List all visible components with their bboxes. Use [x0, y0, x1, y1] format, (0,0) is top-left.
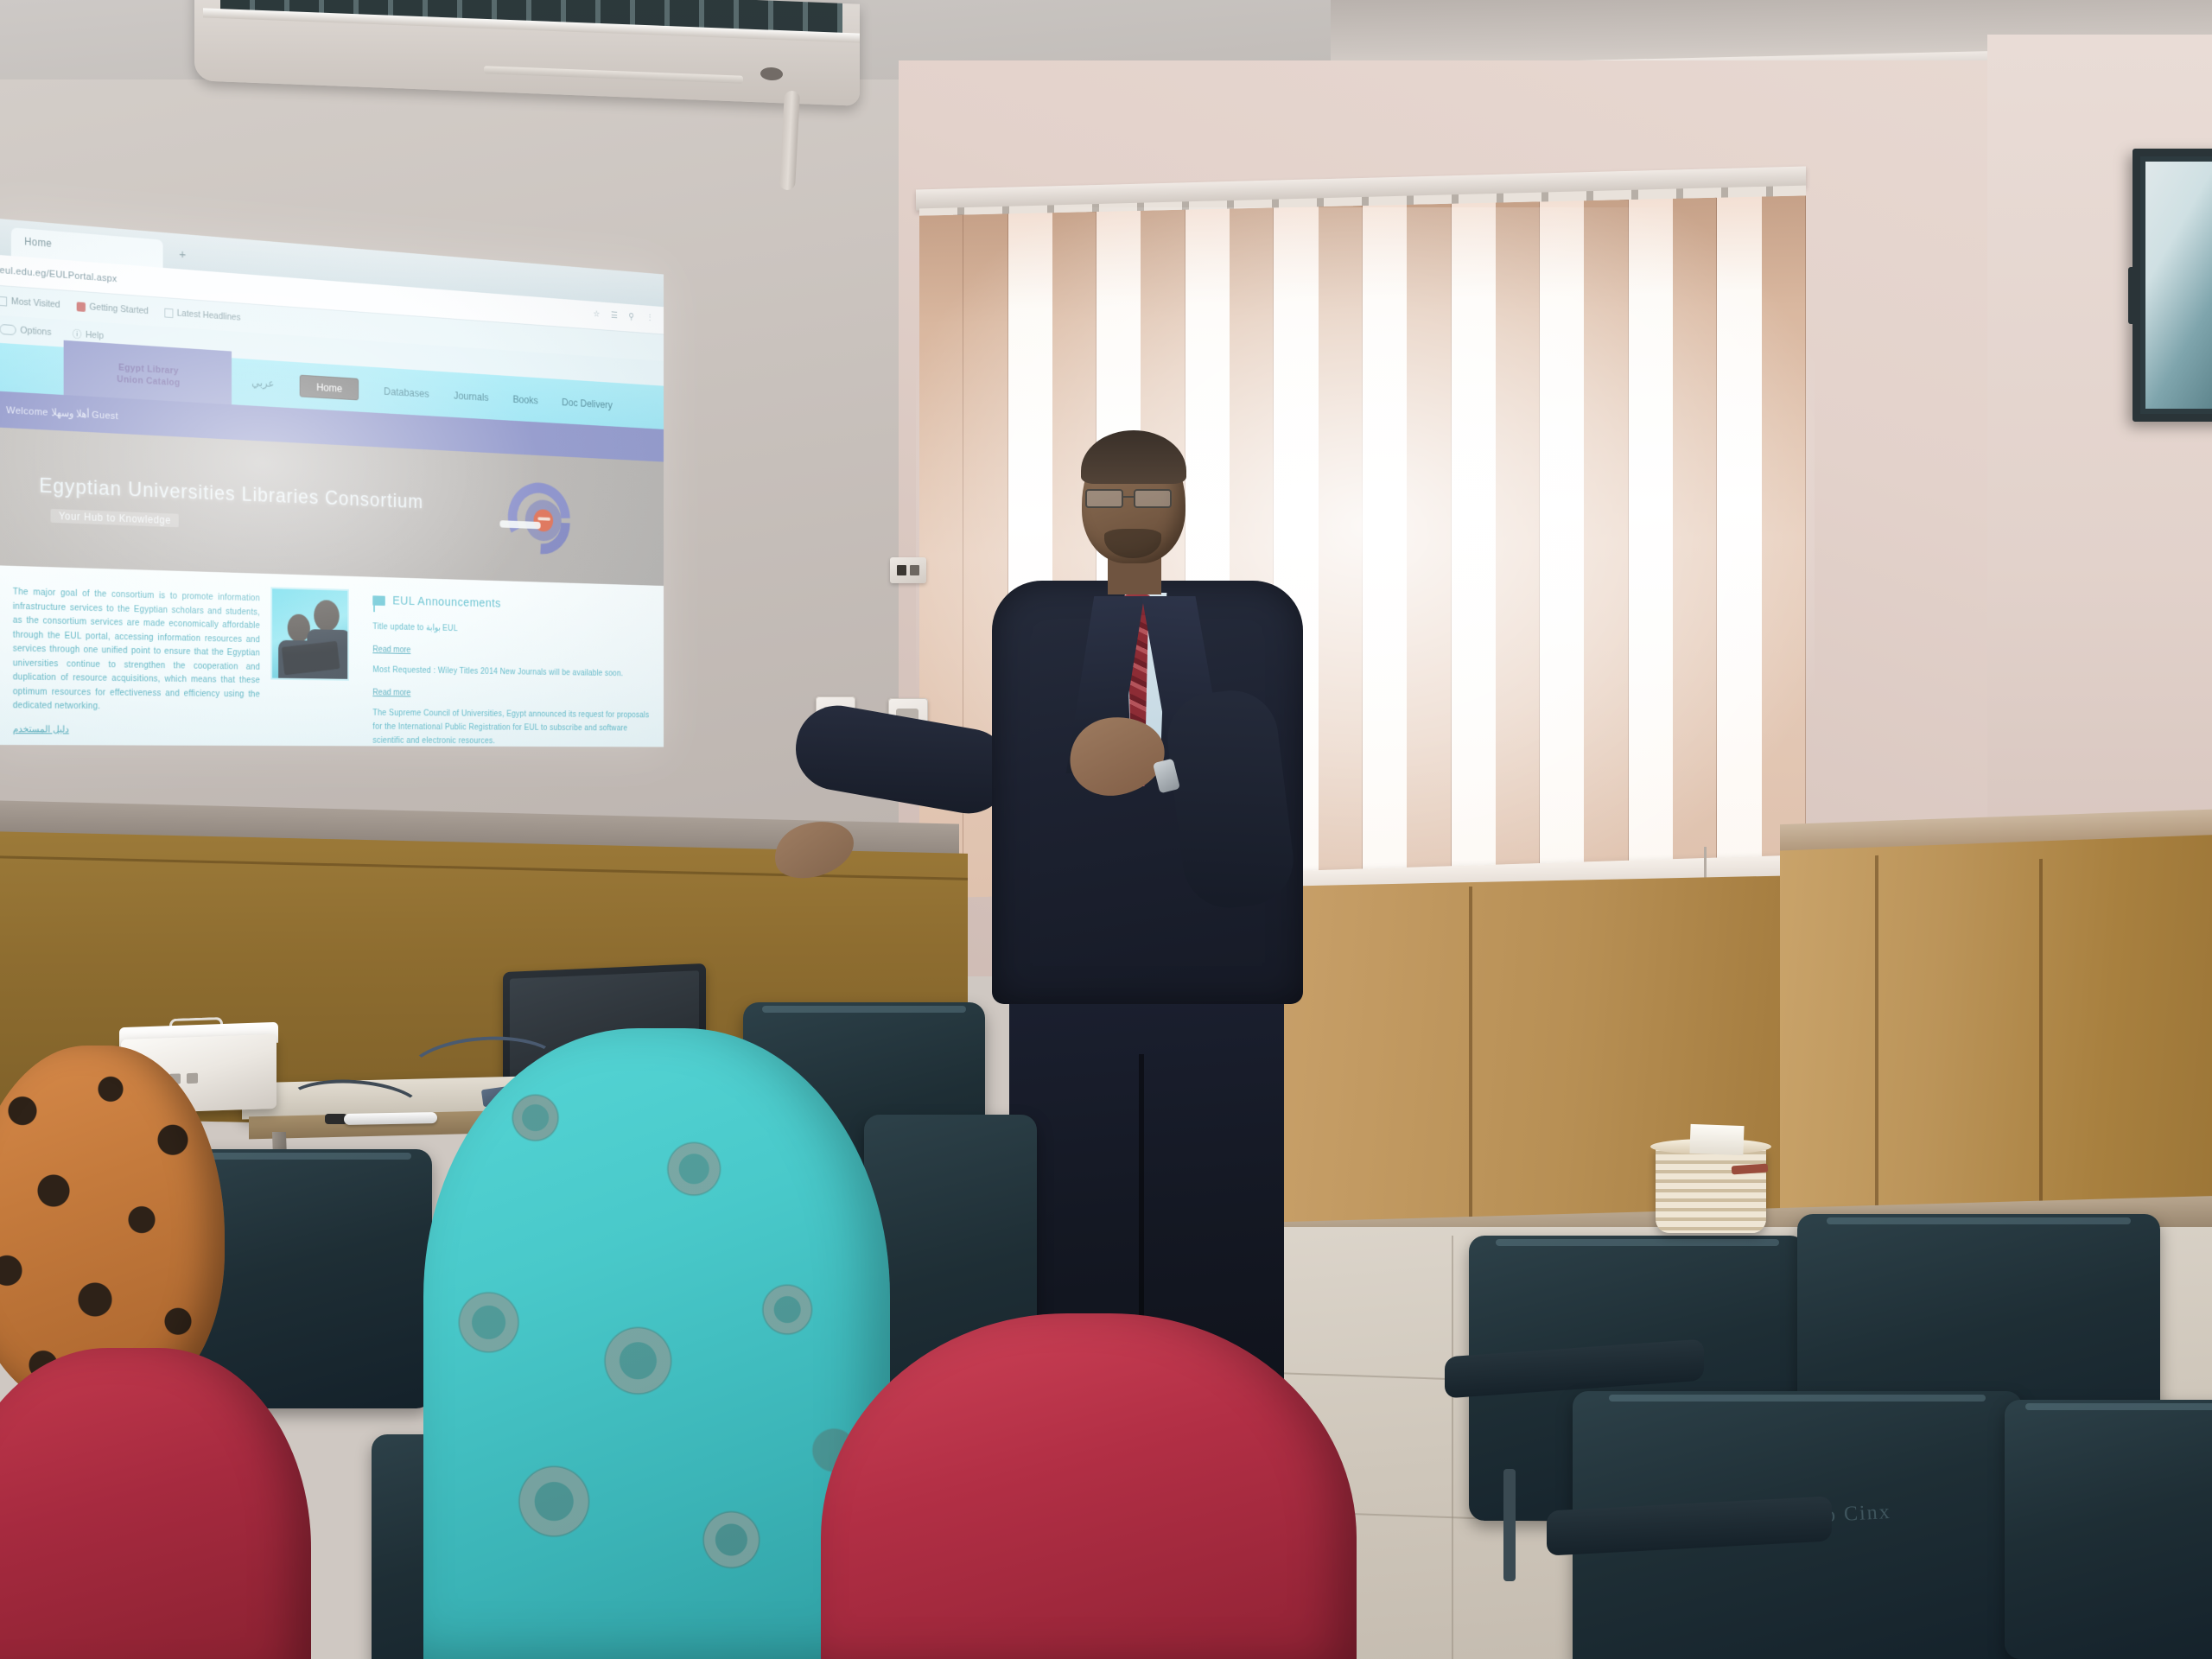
new-tab-icon[interactable]: +: [175, 247, 189, 264]
read-more-link[interactable]: Read more: [372, 645, 410, 655]
chair-leg: [1503, 1469, 1516, 1581]
help-icon: ⓘ: [73, 327, 81, 341]
search-icon[interactable]: ⚲: [628, 311, 638, 322]
bookmark-label: Most Visited: [11, 296, 60, 310]
reader-icon[interactable]: ☰: [611, 310, 620, 321]
air-conditioner-port: [760, 67, 783, 81]
addon-label: Options: [20, 326, 51, 338]
nav-item-home[interactable]: Home: [300, 374, 359, 400]
cabinet-glass: [2145, 162, 2212, 409]
announcement-item: Most Requested : Wiley Titles 2014 New J…: [372, 663, 652, 681]
bookmark-latest-headlines[interactable]: Latest Headlines: [164, 308, 240, 323]
attendee-turquoise-scarf: [423, 1028, 890, 1659]
nav-item-arabic[interactable]: عربي: [251, 376, 274, 391]
basket-contents: [1689, 1124, 1744, 1155]
eyeglasses-right-lens-icon: [1134, 489, 1172, 508]
intro-column: The major goal of the consortium is to p…: [0, 565, 270, 746]
announcement-item: The Supreme Council of Universities, Egy…: [372, 706, 652, 747]
wall-display-cabinet: [2133, 149, 2212, 422]
feed-icon: [164, 308, 173, 317]
bookmark-label: Latest Headlines: [177, 308, 241, 323]
eyeglasses-bridge: [1123, 496, 1134, 498]
announcements-heading: EUL Announcements: [372, 593, 652, 613]
firefox-icon: [76, 302, 85, 312]
floor-tile-line: [1452, 1236, 1453, 1659]
nav-item-journals[interactable]: Journals: [454, 389, 489, 403]
announcements-title: EUL Announcements: [392, 594, 500, 610]
folder-icon: [0, 296, 7, 306]
flag-icon: [372, 595, 385, 606]
audience-chair[interactable]: [2005, 1400, 2212, 1659]
eul-circular-logo: [499, 474, 581, 563]
photo-person-b-head: [314, 600, 339, 632]
menu-icon[interactable]: ⋮: [646, 313, 656, 324]
panel-seam: [1469, 887, 1472, 1232]
addon-options[interactable]: Options: [0, 324, 51, 338]
intro-paragraph: The major goal of the consortium is to p…: [13, 585, 260, 715]
students-photo: [270, 574, 360, 746]
projection-screen: Home + eul.edu.eg/EULPortal.aspx ☆ ☰ ⚲ ⋮…: [0, 218, 664, 747]
announcements-column: EUL Announcements Title update to بوابة …: [361, 576, 664, 747]
read-more-link[interactable]: Read more: [372, 688, 410, 698]
laser-pointer[interactable]: [344, 1112, 437, 1125]
waste-basket: [1656, 1145, 1766, 1233]
arabic-guide-link[interactable]: دليل المستخدم: [13, 723, 69, 734]
page-title: Egyptian Universities Libraries Consorti…: [39, 474, 423, 514]
url-text: eul.edu.eg/EULPortal.aspx: [0, 265, 118, 284]
brand-line-2: Union Catalog: [117, 374, 180, 388]
nav-item-doc-delivery[interactable]: Doc Delivery: [562, 396, 613, 410]
eyeglasses-left-lens-icon: [1085, 489, 1123, 508]
oval-icon: [0, 324, 16, 335]
browser-toolbar-icons: ☆ ☰ ⚲ ⋮: [593, 308, 655, 324]
page-subtitle: Your Hub to Knowledge: [51, 509, 180, 527]
bookmark-star-icon[interactable]: ☆: [593, 308, 602, 321]
seminar-room-photo: Home + eul.edu.eg/EULPortal.aspx ☆ ☰ ⚲ ⋮…: [0, 0, 2212, 1659]
projector-port: [187, 1073, 198, 1084]
addon-label: Help: [86, 330, 104, 341]
bookmark-getting-started[interactable]: Getting Started: [76, 301, 148, 316]
light-switch[interactable]: [890, 557, 926, 583]
bookmark-label: Getting Started: [89, 302, 148, 316]
nav-item-books[interactable]: Books: [512, 392, 537, 406]
cabinet-latch[interactable]: [2128, 267, 2140, 324]
announcement-item: Title update to بوابة EUL: [372, 620, 652, 640]
nav-item-databases[interactable]: Databases: [384, 385, 429, 399]
site-content: The major goal of the consortium is to p…: [0, 565, 664, 747]
bookmark-most-visited[interactable]: Most Visited: [0, 296, 60, 310]
